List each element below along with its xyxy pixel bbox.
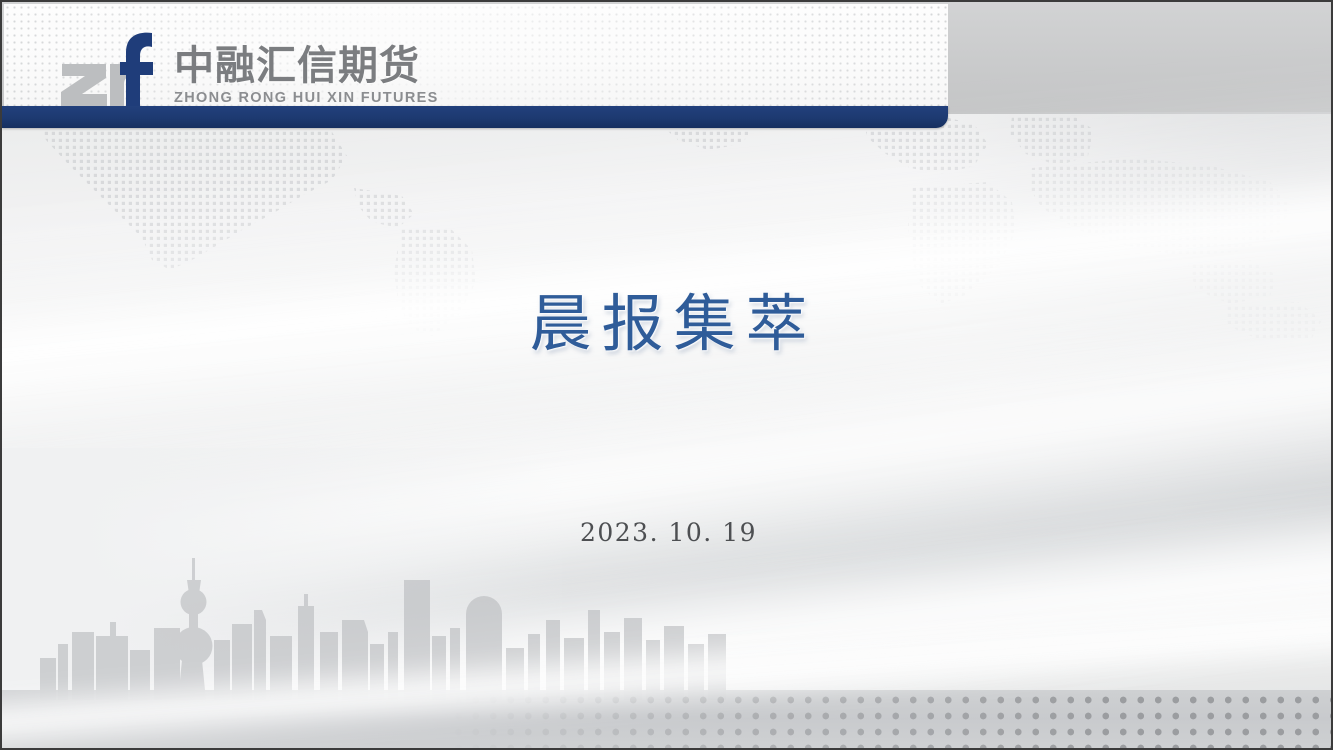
navy-accent-bar [2, 106, 948, 128]
company-name-en: ZHONG RONG HUI XIN FUTURES [174, 90, 439, 106]
slide-date: 2023. 10. 19 [2, 518, 1333, 547]
znf-logo-mark-icon [60, 30, 160, 108]
title-block: 晨报集萃 [2, 288, 1333, 359]
slide-title: 晨报集萃 [2, 288, 1333, 359]
company-name-cn: 中融汇信期货 [174, 45, 420, 87]
logo-text-block: 中融汇信期货 ZHONG RONG HUI XIN FUTURES [174, 45, 439, 108]
company-logo: 中融汇信期货 ZHONG RONG HUI XIN FUTURES [60, 28, 439, 108]
date-block: 2023. 10. 19 [2, 518, 1333, 547]
presentation-slide: 中融汇信期货 ZHONG RONG HUI XIN FUTURES 晨报集萃 2… [0, 0, 1333, 750]
